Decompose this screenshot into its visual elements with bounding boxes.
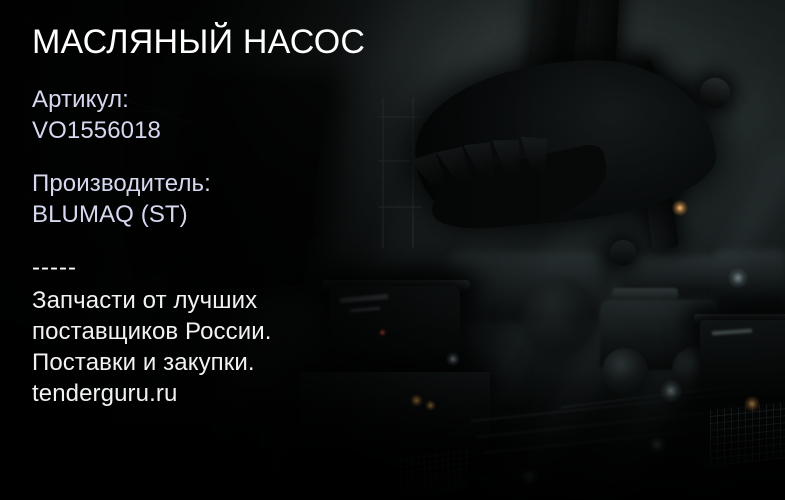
- divider-dashes: -----: [32, 252, 452, 283]
- manufacturer-value: BLUMAQ (ST): [32, 199, 452, 230]
- distant-machine-silhouette: [716, 250, 785, 304]
- manufacturer-field: Производитель: BLUMAQ (ST): [32, 168, 452, 230]
- large-blurred-wheel: [520, 278, 598, 356]
- product-title: МАСЛЯНЫЙ НАСОС: [32, 22, 452, 62]
- loader-wheel: [602, 348, 648, 394]
- excavator-joint-pin: [700, 78, 730, 108]
- article-value: VO1556018: [32, 115, 452, 146]
- ambient-light-spot: [728, 268, 748, 288]
- product-banner-card: МАСЛЯНЫЙ НАСОС Артикул: VO1556018 Произв…: [0, 0, 785, 500]
- excavator-joint-pin-lower: [610, 240, 636, 266]
- description-line: Запчасти от лучших: [32, 285, 452, 316]
- site-url: tenderguru.ru: [32, 378, 452, 409]
- description-block: Запчасти от лучших поставщиков России. П…: [32, 285, 452, 409]
- article-label: Артикул:: [32, 84, 452, 115]
- work-light: [672, 200, 688, 216]
- ambient-light-spot: [648, 436, 666, 454]
- description-line: Поставки и закупки.: [32, 347, 452, 378]
- description-line: поставщиков России.: [32, 316, 452, 347]
- manufacturer-label: Производитель:: [32, 168, 452, 199]
- article-field: Артикул: VO1556018: [32, 84, 452, 146]
- ambient-light-spot: [516, 470, 542, 484]
- banner-text-content: МАСЛЯНЫЙ НАСОС Артикул: VO1556018 Произв…: [32, 22, 452, 409]
- work-light: [744, 396, 760, 412]
- ambient-light-spot: [660, 380, 682, 402]
- mesh-basket: [710, 402, 785, 466]
